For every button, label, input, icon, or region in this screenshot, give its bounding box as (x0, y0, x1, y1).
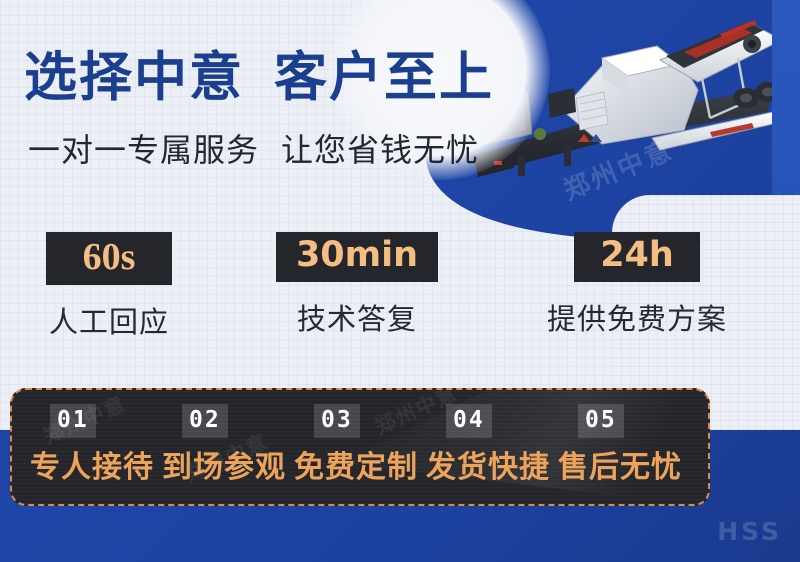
headline-right: 客户至上 (274, 49, 494, 107)
step-label: 免费定制 (294, 446, 418, 490)
subheadline-left: 一对一专属服务 (28, 131, 259, 169)
stat-value-badge: 24h (574, 232, 700, 282)
stat-value-badge: 30min (276, 232, 438, 282)
step-number: 03 (314, 404, 360, 438)
stat-value-badge: 60s (46, 232, 172, 285)
headline-left: 选择中意 (24, 49, 244, 107)
stat-caption: 人工回应 (14, 299, 204, 341)
step-label: 到场参观 (162, 446, 286, 490)
headline: 选择中意客户至上 (24, 52, 494, 105)
step-label: 专人接待 (30, 446, 154, 490)
steps-label-row: 专人接待 到场参观 免费定制 发货快捷 售后无忧 (12, 446, 710, 492)
stat-item: 60s 人工回应 (14, 232, 204, 341)
step-number: 04 (446, 404, 492, 438)
stat-item: 30min 技术答复 (262, 232, 452, 338)
stat-item: 24h 提供免费方案 (524, 232, 750, 338)
stats-row: 60s 人工回应 30min 技术答复 24h 提供免费方案 (0, 232, 800, 342)
subheadline-right: 让您省钱无忧 (281, 131, 479, 169)
stat-caption: 技术答复 (262, 296, 452, 338)
subheadline: 一对一专属服务让您省钱无忧 (28, 134, 479, 166)
brand-watermark: HSS (717, 517, 782, 546)
step-number: 01 (50, 404, 96, 438)
stat-caption: 提供免费方案 (524, 296, 750, 338)
step-number: 05 (578, 404, 624, 438)
service-steps-bar: 郑州中意 郑州中意 郑州中意 01 02 03 04 05 专人接待 到场参观 … (10, 388, 710, 506)
steps-number-row: 01 02 03 04 05 (12, 404, 710, 438)
step-number: 02 (182, 404, 228, 438)
step-label: 售后无忧 (558, 446, 682, 490)
promo-banner: 郑州中意 选择中意客户至上 一对一专属服务让您省钱无忧 60s 人工回应 30m… (0, 0, 800, 562)
step-label: 发货快捷 (426, 446, 550, 490)
